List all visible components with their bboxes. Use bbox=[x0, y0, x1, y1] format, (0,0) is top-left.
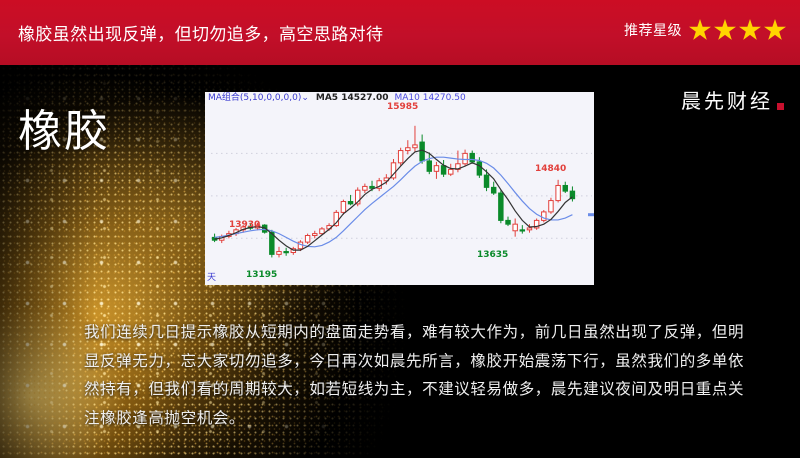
star-rating bbox=[689, 19, 786, 41]
star-icon bbox=[764, 19, 786, 41]
rating-label: 推荐星级 bbox=[624, 20, 682, 40]
candlestick-chart-panel[interactable]: MA组合(5,10,0,0,0,0)⌄MA5 14527.00MA10 1427… bbox=[205, 92, 594, 285]
chart-price-label: 13195 bbox=[246, 270, 277, 280]
brand-name: 晨先财经 bbox=[681, 85, 773, 114]
chart-price-label: 15985 bbox=[387, 102, 418, 112]
commodity-title: 橡胶 bbox=[18, 95, 110, 159]
analysis-paragraph: 我们连续几日提示橡胶从短期内的盘面走势看，难有较大作为，前几日虽然出现了反弹，但… bbox=[84, 318, 756, 432]
chart-price-label: 14840 bbox=[535, 164, 566, 174]
promo-card: 橡胶虽然出现反弹，但切勿追多，高空思路对待 推荐星级 橡胶 晨先财经 MA组合(… bbox=[0, 0, 800, 458]
brand-dot-icon bbox=[777, 103, 784, 110]
star-icon bbox=[689, 19, 711, 41]
axis-unit-label: 天 bbox=[207, 270, 216, 283]
chart-canvas bbox=[205, 92, 594, 285]
star-icon bbox=[739, 19, 761, 41]
page-title: 橡胶虽然出现反弹，但切勿追多，高空思路对待 bbox=[18, 20, 383, 45]
chart-price-label: 13635 bbox=[477, 250, 508, 260]
brand-logo: 晨先财经 bbox=[681, 85, 784, 114]
chart-price-label: 13930 bbox=[229, 220, 260, 230]
rating-group: 推荐星级 bbox=[624, 19, 786, 41]
header-band: 橡胶虽然出现反弹，但切勿追多，高空思路对待 推荐星级 bbox=[0, 0, 800, 65]
analysis-text: 我们连续几日提示橡胶从短期内的盘面走势看，难有较大作为，前几日虽然出现了反弹，但… bbox=[84, 318, 756, 432]
star-icon bbox=[714, 19, 736, 41]
